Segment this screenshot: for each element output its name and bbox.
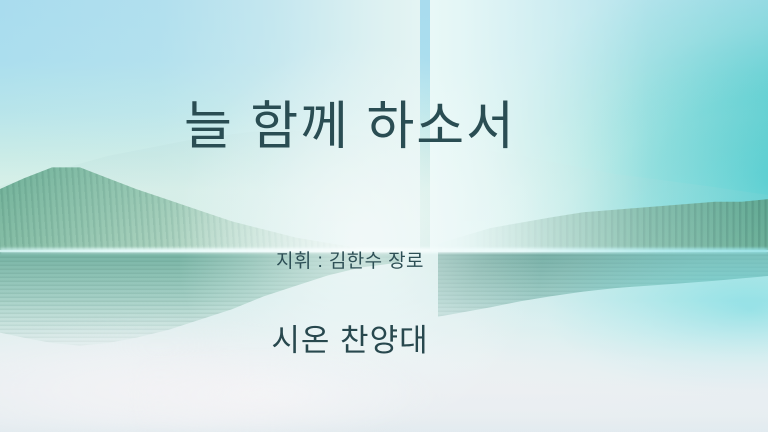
choir-name: 시온 찬양대	[0, 320, 700, 362]
slide-title: 늘 함께 하소서	[0, 96, 700, 158]
conductor-credit: 지휘 : 김한수 장로	[0, 249, 700, 275]
title-slide: 늘 함께 하소서 지휘 : 김한수 장로 시온 찬양대	[0, 0, 768, 432]
slide-text-stack: 늘 함께 하소서 지휘 : 김한수 장로 시온 찬양대	[0, 0, 700, 432]
